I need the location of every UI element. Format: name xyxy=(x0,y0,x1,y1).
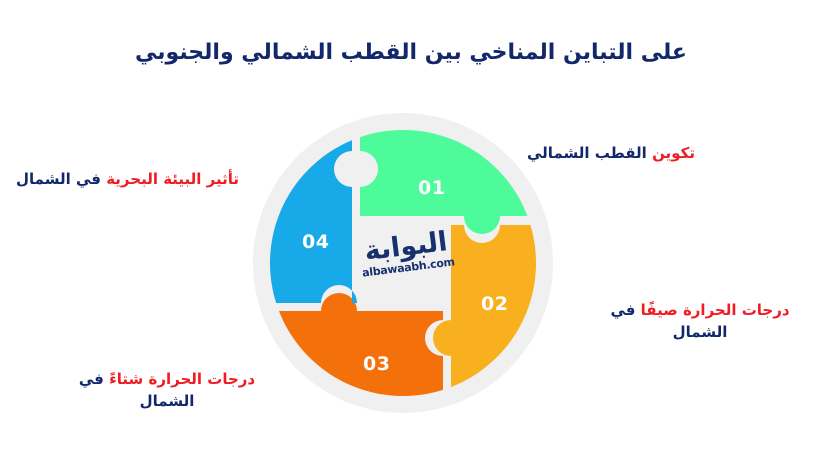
piece-label-04: تأثير البيئة البحرية في الشمال xyxy=(16,169,239,191)
puzzle-piece-01[interactable] xyxy=(360,115,553,234)
puzzle-pieces-graphic xyxy=(253,113,553,413)
piece-label-01-lead: تكوين xyxy=(652,144,695,162)
puzzle-diagram: 01 02 03 04 البوابة albawaabh.com xyxy=(253,113,553,413)
puzzle-piece-04[interactable] xyxy=(253,113,357,303)
piece-label-01: تكوين القطب الشمالي xyxy=(527,143,695,165)
puzzle-piece-02[interactable] xyxy=(433,225,553,413)
piece-label-02-lead: درجات الحرارة صيفًا xyxy=(641,301,790,319)
piece-label-04-lead: تأثير البيئة البحرية xyxy=(106,170,239,188)
piece-label-01-rest: القطب الشمالي xyxy=(527,144,647,162)
piece-label-02: درجات الحرارة صيفًا في الشمال xyxy=(596,300,804,344)
piece-label-03: درجات الحرارة شتاءً في الشمال xyxy=(62,369,272,413)
infographic-canvas: على التباين المناخي بين القطب الشمالي وا… xyxy=(0,0,822,456)
puzzle-piece-03[interactable] xyxy=(253,293,443,413)
piece-label-03-lead: درجات الحرارة شتاءً xyxy=(109,370,255,388)
piece-label-04-rest: في الشمال xyxy=(16,170,101,188)
page-title: على التباين المناخي بين القطب الشمالي وا… xyxy=(0,39,822,68)
